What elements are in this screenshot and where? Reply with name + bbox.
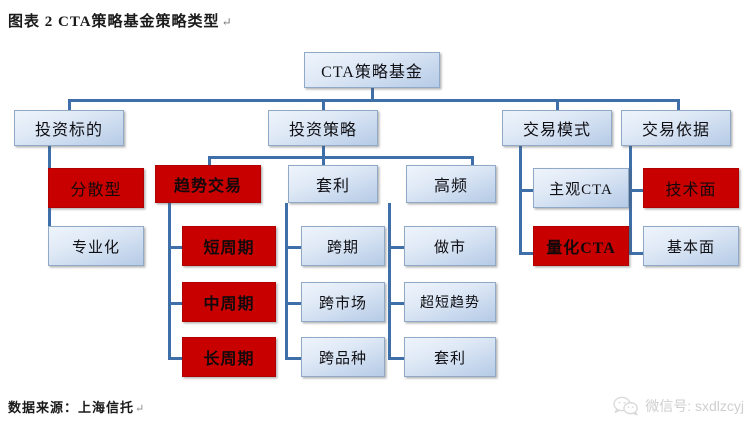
wechat-icon xyxy=(613,396,639,416)
connector-elbow-l3b2c xyxy=(285,357,301,360)
connector-spine-l2b2 xyxy=(285,203,288,358)
node-fundamental-analysis[interactable]: 基本面 xyxy=(643,226,739,266)
connector-elbow-l3b1a xyxy=(168,246,182,249)
connector-elbow-l3b2a xyxy=(285,246,301,249)
connector-spine-l2b3 xyxy=(388,203,391,358)
figure-source: 数据来源：上海信托↵ xyxy=(8,397,145,416)
node-quantitative-cta[interactable]: 量化CTA xyxy=(533,226,629,266)
connector-elbow-l3b1c xyxy=(168,357,182,360)
node-discretionary-cta[interactable]: 主观CTA xyxy=(533,168,629,208)
node-cross-market[interactable]: 跨市场 xyxy=(301,282,385,322)
wechat-watermark: 微信号: sxdlzcyj xyxy=(613,396,744,416)
diagram-canvas: 图表 2 CTA策略基金策略类型↵ CTA策略基金 投资标的 投资策略 交易模式 xyxy=(0,0,754,431)
connector-elbow-l2c2 xyxy=(519,252,533,255)
node-trend-following[interactable]: 趋势交易 xyxy=(155,165,261,203)
paragraph-mark: ↵ xyxy=(222,15,233,29)
figure-source-text: 数据来源：上海信托 xyxy=(8,400,134,415)
node-calendar-spread[interactable]: 跨期 xyxy=(301,226,385,266)
node-arbitrage[interactable]: 套利 xyxy=(288,165,378,203)
connector-elbow-l3b2b xyxy=(285,302,301,305)
node-diversified[interactable]: 分散型 xyxy=(48,168,144,208)
connector-spine-l1c xyxy=(519,145,522,255)
connector-elbow-l3b1b xyxy=(168,302,182,305)
node-high-frequency[interactable]: 高频 xyxy=(406,165,496,203)
node-trading-mode[interactable]: 交易模式 xyxy=(502,110,612,146)
connector-elbow-l3b3a xyxy=(388,246,404,249)
connector-bus-l1b xyxy=(208,156,472,159)
node-specialized[interactable]: 专业化 xyxy=(48,226,144,266)
node-medium-cycle[interactable]: 中周期 xyxy=(182,282,276,322)
node-invest-strategy[interactable]: 投资策略 xyxy=(268,110,378,146)
connector-spine-l1d xyxy=(629,145,632,255)
connector-root-bus xyxy=(68,99,680,102)
connector-elbow-l2c1 xyxy=(519,189,533,192)
connector-elbow-l3b3c xyxy=(388,357,404,360)
node-cross-commodity[interactable]: 跨品种 xyxy=(301,337,385,377)
node-long-cycle[interactable]: 长周期 xyxy=(182,337,276,377)
node-hf-arbitrage[interactable]: 套利 xyxy=(404,337,496,377)
figure-title: 图表 2 CTA策略基金策略类型↵ xyxy=(8,10,233,31)
wechat-id-text: 微信号: sxdlzcyj xyxy=(645,396,744,416)
node-short-cycle[interactable]: 短周期 xyxy=(182,226,276,266)
node-technical-analysis[interactable]: 技术面 xyxy=(643,168,739,208)
connector-elbow-l2d1 xyxy=(629,189,643,192)
node-trading-basis[interactable]: 交易依据 xyxy=(621,110,731,146)
node-market-making[interactable]: 做市 xyxy=(404,226,496,266)
connector-spine-l2b1 xyxy=(168,203,171,358)
node-ultra-short-trend[interactable]: 超短趋势 xyxy=(404,282,496,322)
node-invest-target[interactable]: 投资标的 xyxy=(14,110,124,146)
node-root-cta-fund[interactable]: CTA策略基金 xyxy=(304,52,440,88)
paragraph-mark-source: ↵ xyxy=(135,403,145,415)
connector-elbow-l2d2 xyxy=(629,252,643,255)
connector-elbow-l3b3b xyxy=(388,302,404,305)
figure-title-text: 图表 2 CTA策略基金策略类型 xyxy=(8,14,220,30)
